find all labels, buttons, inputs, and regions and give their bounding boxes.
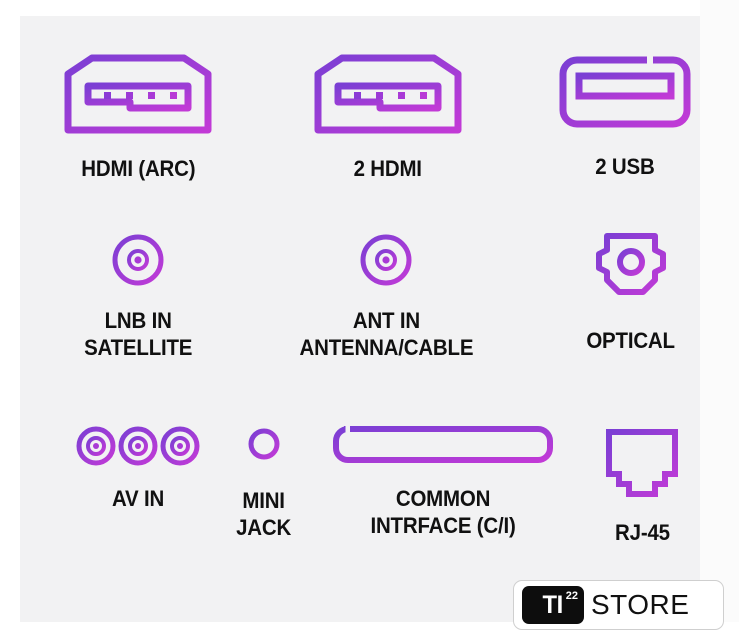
port-cell-hdmi-2: 2 HDMI [288, 52, 488, 182]
port-label-ant: ANT IN ANTENNA/CABLE [299, 308, 473, 362]
port-label-rj45: RJ-45 [615, 520, 670, 546]
port-label-usb: 2 USB [595, 154, 654, 180]
port-label-hdmi-arc: HDMI (ARC) [81, 156, 195, 182]
hdmi-port-icon [58, 52, 218, 136]
logo-mark-superscript: 22 [566, 590, 578, 602]
port-cell-common-interface: COMMON INTRFACE (C/I) [324, 424, 562, 540]
logo-mark: TI 22 [522, 586, 584, 624]
port-cell-lnb: LNB IN SATELLITE [46, 230, 230, 362]
mini-jack-icon [244, 424, 284, 464]
port-label-lnb: LNB IN SATELLITE [84, 308, 192, 362]
port-cell-rj45: RJ-45 [566, 424, 718, 546]
port-cell-ant: ANT IN ANTENNA/CABLE [266, 230, 506, 362]
coaxial-connector-icon [356, 230, 416, 290]
logo-mark-text: TI [543, 591, 563, 620]
coaxial-connector-icon [108, 230, 168, 290]
port-label-mini-jack: MINI JACK [237, 488, 292, 542]
rj45-ethernet-icon [597, 424, 687, 504]
rca-triple-jack-icon [76, 424, 200, 468]
port-cell-hdmi-arc: HDMI (ARC) [38, 52, 238, 182]
logo-wordmark: STORE [591, 589, 689, 621]
port-label-common-interface: COMMON INTRFACE (C/I) [370, 486, 515, 540]
hdmi-port-icon [308, 52, 468, 136]
port-cell-usb: 2 USB [530, 52, 720, 180]
port-cell-av: AV IN [46, 424, 230, 512]
infographic-root: HDMI (ARC) 2 HDMI 2 USB [0, 0, 739, 640]
port-cell-optical: OPTICAL [546, 228, 716, 354]
port-label-av: AV IN [112, 486, 164, 512]
port-label-optical: OPTICAL [587, 328, 675, 354]
common-interface-slot-icon [328, 424, 558, 466]
port-label-hdmi-2: 2 HDMI [354, 156, 422, 182]
usb-port-icon [555, 52, 695, 132]
ti-store-logo[interactable]: TI 22 STORE [513, 580, 724, 630]
optical-toslink-icon [591, 228, 671, 300]
port-cell-mini-jack: MINI JACK [204, 424, 324, 542]
